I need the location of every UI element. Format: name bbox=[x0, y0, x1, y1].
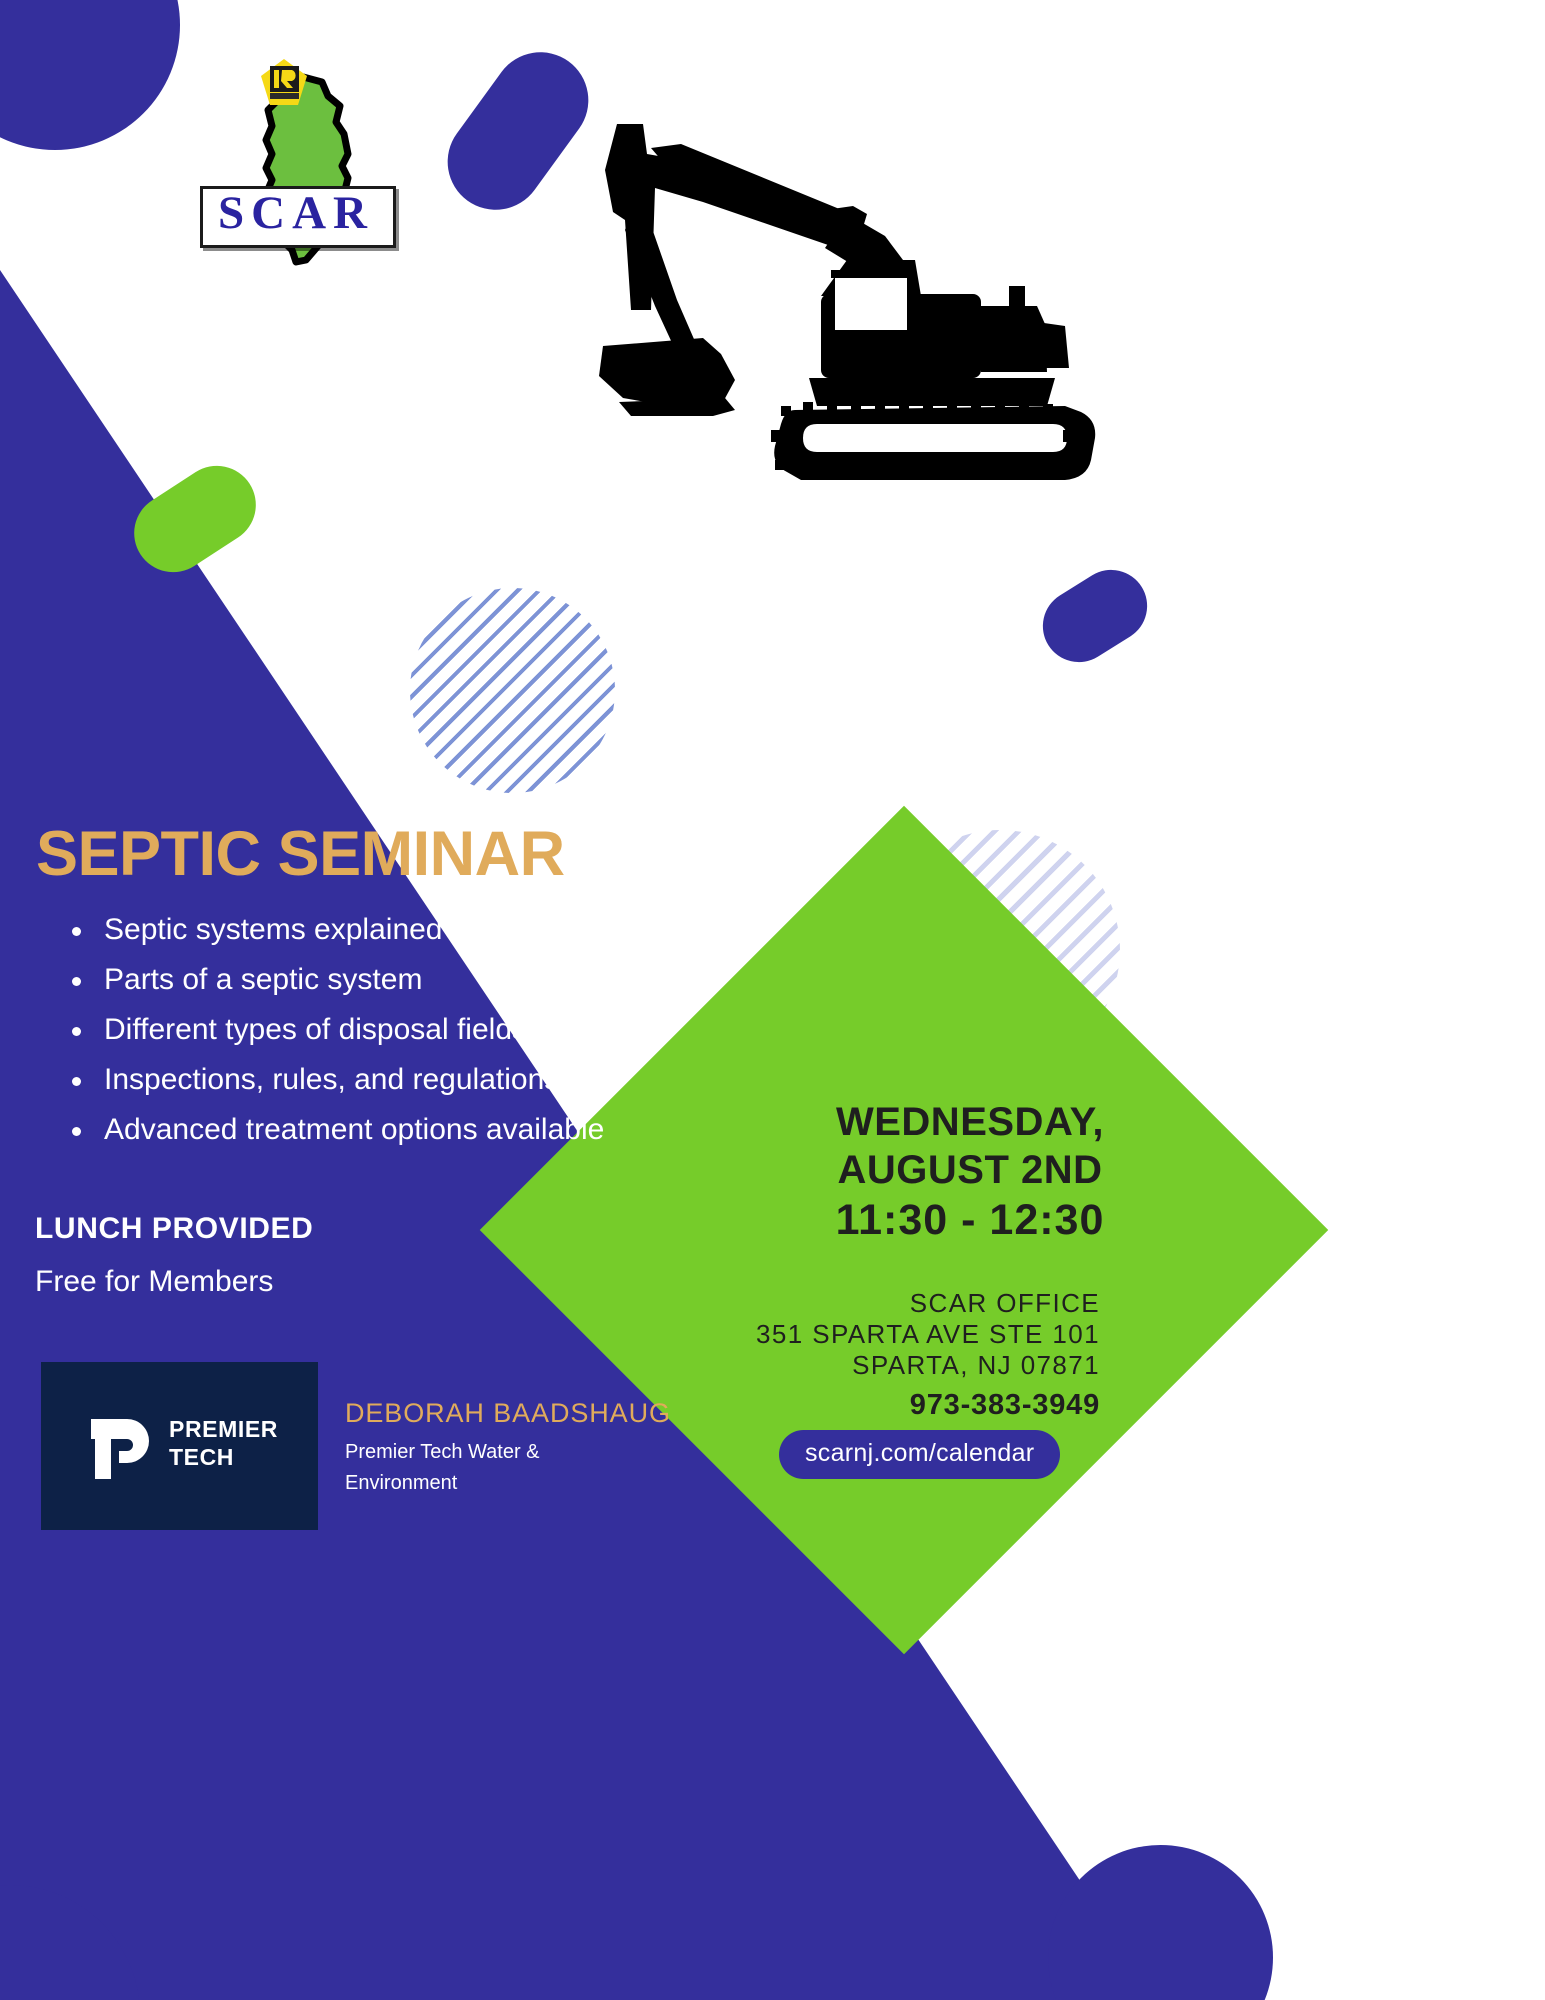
premier-tech-word-line2: TECH bbox=[169, 1443, 278, 1471]
premier-tech-logo: PREMIER TECH bbox=[41, 1362, 318, 1530]
lunch-heading: LUNCH PROVIDED bbox=[35, 1212, 313, 1246]
scar-wordmark: SCAR bbox=[201, 184, 391, 242]
speaker-name: DEBORAH BAADSHAUG bbox=[345, 1398, 671, 1429]
excavator-icon bbox=[585, 110, 1105, 490]
topics-list: Septic systems explained Parts of a sept… bbox=[48, 905, 748, 1155]
event-date: AUGUST 2ND bbox=[780, 1146, 1160, 1194]
calendar-link-button[interactable]: scarnj.com/calendar bbox=[779, 1430, 1060, 1479]
venue-address-line1: 351 SPARTA AVE STE 101 bbox=[740, 1319, 1100, 1350]
list-item: Parts of a septic system bbox=[48, 955, 748, 1005]
list-item: Septic systems explained bbox=[48, 905, 748, 955]
flyer-canvas: SCAR bbox=[0, 0, 1545, 2000]
venue-name: SCAR OFFICE bbox=[740, 1288, 1100, 1319]
page-title: SEPTIC SEMINAR bbox=[36, 818, 565, 890]
event-date-block: WEDNESDAY, AUGUST 2ND 11:30 - 12:30 bbox=[780, 1098, 1160, 1246]
venue-address-line2: SPARTA, NJ 07871 bbox=[740, 1350, 1100, 1381]
list-item: Inspections, rules, and regulations bbox=[48, 1055, 748, 1105]
scar-logo: SCAR bbox=[193, 58, 408, 268]
list-item: Different types of disposal fields bbox=[48, 1005, 748, 1055]
venue-block: SCAR OFFICE 351 SPARTA AVE STE 101 SPART… bbox=[740, 1288, 1100, 1422]
premier-tech-word-line1: PREMIER bbox=[169, 1415, 278, 1443]
lunch-note: Free for Members bbox=[35, 1265, 273, 1299]
event-time: 11:30 - 12:30 bbox=[780, 1194, 1160, 1246]
speaker-organization: Premier Tech Water & Environment bbox=[345, 1437, 635, 1499]
list-item: Advanced treatment options available bbox=[48, 1105, 748, 1155]
realtor-badge-icon bbox=[260, 58, 308, 108]
venue-phone: 973-383-3949 bbox=[740, 1389, 1100, 1422]
premier-tech-mark-icon bbox=[89, 1417, 155, 1481]
event-day: WEDNESDAY, bbox=[780, 1098, 1160, 1146]
premier-tech-wordmark: PREMIER TECH bbox=[169, 1415, 278, 1471]
